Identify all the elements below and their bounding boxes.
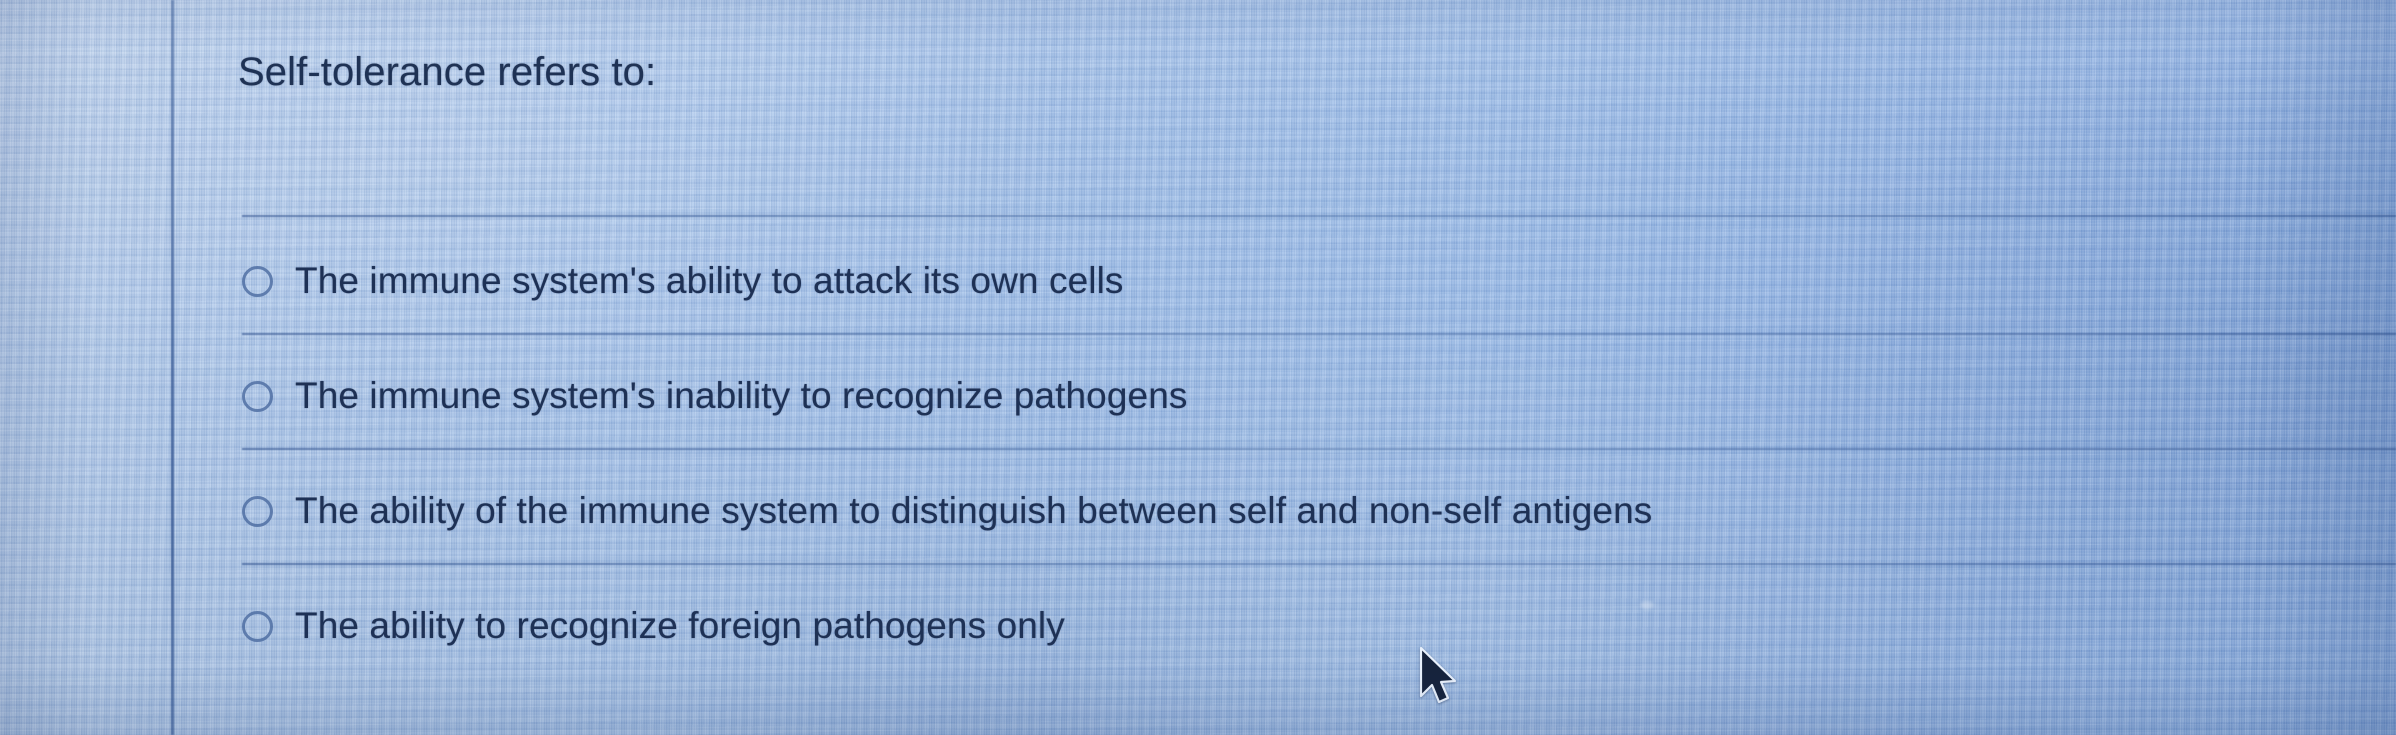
answer-option-1-label: The immune system's ability to attack it… <box>295 260 1124 302</box>
answer-option-1[interactable]: The immune system's ability to attack it… <box>242 229 1124 333</box>
answer-option-2-label: The immune system's inability to recogni… <box>295 375 1187 417</box>
radio-unchecked-icon[interactable] <box>242 381 273 412</box>
radio-unchecked-icon[interactable] <box>242 496 273 527</box>
radio-unchecked-icon[interactable] <box>242 611 273 642</box>
answer-option-3[interactable]: The ability of the immune system to dist… <box>242 459 1652 563</box>
quiz-screen: Self-tolerance refers to: The immune sys… <box>0 0 2396 735</box>
option-divider <box>242 563 2396 565</box>
answer-option-4-label: The ability to recognize foreign pathoge… <box>295 605 1065 647</box>
radio-unchecked-icon[interactable] <box>242 266 273 297</box>
answer-option-4[interactable]: The ability to recognize foreign pathoge… <box>242 574 1065 678</box>
option-divider <box>242 215 2396 217</box>
screen-glare-speck <box>1640 601 1654 609</box>
answer-option-2[interactable]: The immune system's inability to recogni… <box>242 344 1187 448</box>
option-divider <box>242 333 2396 335</box>
left-border-rule <box>171 0 174 735</box>
question-title: Self-tolerance refers to: <box>238 50 656 95</box>
mouse-arrow-pointer-icon <box>1418 646 1464 710</box>
option-divider <box>242 448 2396 450</box>
question-content: Self-tolerance refers to: The immune sys… <box>0 0 2396 735</box>
answer-option-3-label: The ability of the immune system to dist… <box>295 490 1652 532</box>
